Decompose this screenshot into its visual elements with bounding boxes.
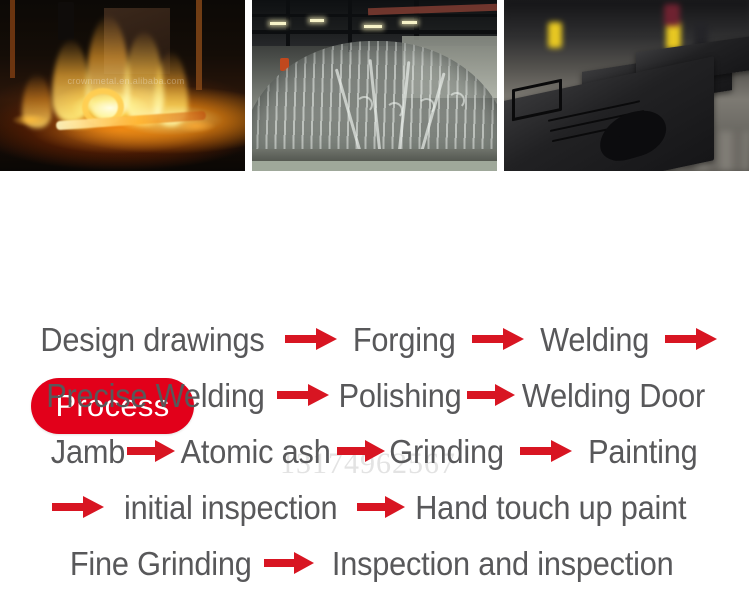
process-step: Grinding — [389, 435, 504, 468]
roof-column — [286, 0, 290, 46]
ceiling — [504, 0, 749, 30]
right-arrow-icon — [264, 551, 314, 575]
process-step: Welding Door — [521, 379, 704, 412]
process-step: initial inspection — [124, 491, 337, 524]
right-arrow-icon — [665, 327, 717, 351]
iron-scroll — [418, 98, 435, 115]
process-section: Process 13174962567 Design drawings Forg… — [0, 171, 749, 597]
ceiling-light — [402, 21, 417, 24]
ceiling-light — [364, 25, 382, 28]
process-step: Painting — [588, 435, 697, 468]
process-step: Polishing — [339, 379, 462, 412]
process-step: Welding — [540, 323, 649, 356]
process-step: Fine Grinding — [70, 547, 252, 580]
right-arrow-icon — [127, 439, 175, 463]
process-flow-row: Fine Grinding Inspection and inspection — [0, 535, 749, 591]
right-arrow-icon — [520, 439, 572, 463]
furnace-post-left — [10, 0, 15, 78]
photo-strip: crownmetal.en.alibaba.com — [0, 0, 749, 171]
process-flow-diagram: Design drawings Forging Welding Precise … — [0, 311, 749, 591]
process-flow-row: initial inspection Hand touch up paint — [0, 479, 749, 535]
worker-figure — [548, 22, 562, 48]
right-arrow-icon — [472, 327, 524, 351]
process-step: Inspection and inspection — [331, 547, 673, 580]
process-step: Jamb — [50, 435, 124, 468]
process-flow-row: Design drawings Forging Welding — [0, 311, 749, 367]
photo-watermark: crownmetal.en.alibaba.com — [66, 76, 186, 86]
arched-iron-frame-photo — [252, 0, 497, 171]
process-step: Atomic ash — [181, 435, 331, 468]
right-arrow-icon — [357, 495, 405, 519]
forging-furnace-photo: crownmetal.en.alibaba.com — [0, 0, 245, 171]
ceiling-light — [310, 19, 324, 22]
process-flow-row: Jamb Atomic ash Grinding Painting — [0, 423, 749, 479]
process-step: Precise Welding — [46, 379, 264, 412]
process-step: Design drawings — [41, 323, 265, 356]
workshop-floor — [252, 161, 497, 171]
right-arrow-icon — [337, 439, 385, 463]
right-arrow-icon — [285, 327, 337, 351]
process-step: Forging — [353, 323, 456, 356]
process-step: Hand touch up paint — [416, 491, 687, 524]
iron-scroll — [448, 92, 465, 109]
worker-silhouette — [58, 2, 74, 40]
iron-scroll — [356, 96, 373, 113]
furnace-post-right — [196, 0, 202, 90]
process-flow-row: Precise Welding Polishing Welding Door — [0, 367, 749, 423]
ceiling-light — [270, 22, 286, 25]
right-arrow-icon — [52, 495, 104, 519]
finished-doors-photo — [504, 0, 749, 171]
iron-scroll — [386, 102, 403, 119]
right-arrow-icon — [277, 383, 329, 407]
right-arrow-icon — [467, 383, 515, 407]
doorway — [664, 4, 680, 26]
